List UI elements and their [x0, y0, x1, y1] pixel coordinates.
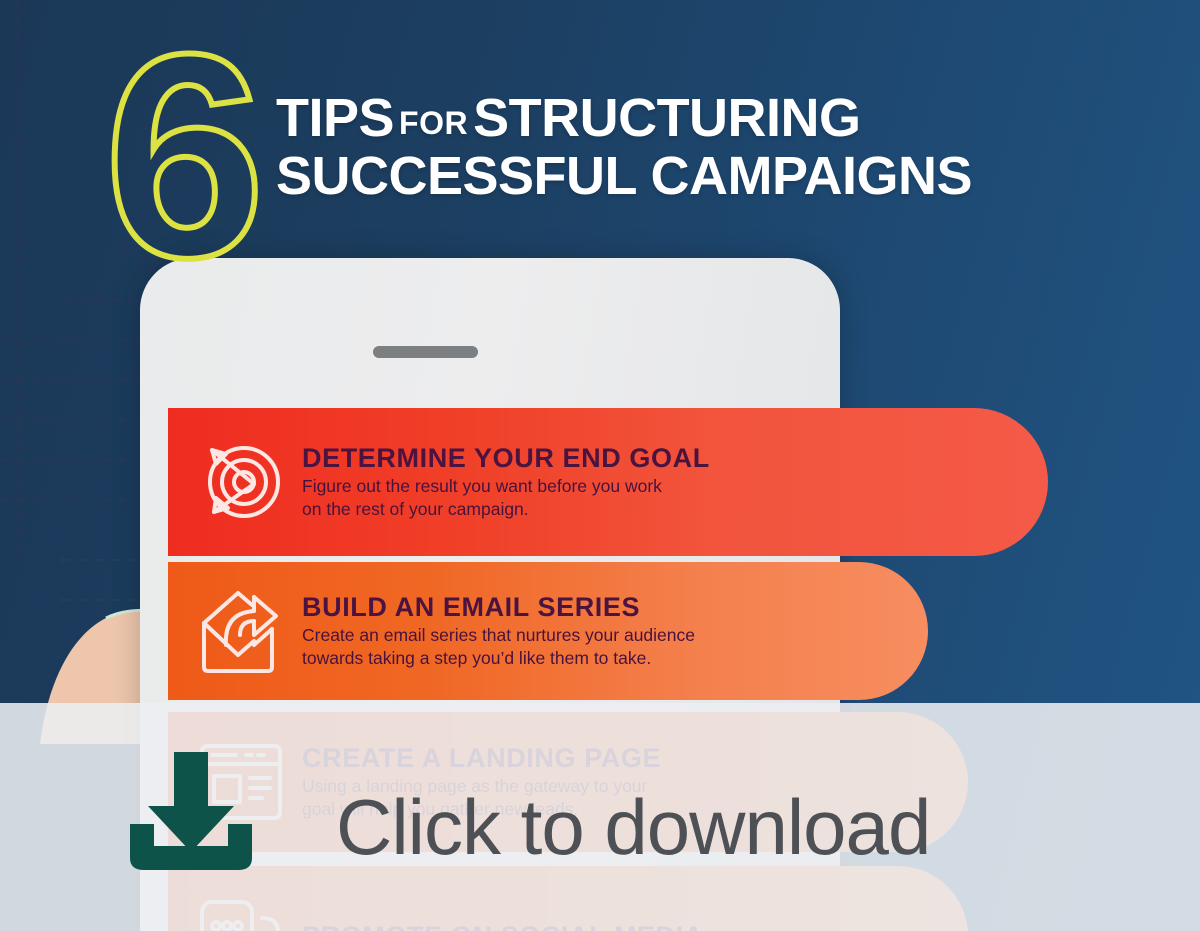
download-label[interactable]: Click to download [336, 782, 930, 873]
page-title: TIPSFORSTRUCTURING SUCCESSFUL CAMPAIGNS [276, 92, 1156, 203]
numeral-6-outline: 6 [104, 38, 294, 290]
tip-card-1[interactable]: DETERMINE YOUR END GOAL Figure out the r… [168, 408, 1048, 556]
target-arrow-icon [192, 434, 288, 530]
tip-card-1-title: DETERMINE YOUR END GOAL [302, 444, 710, 472]
headline-line-1: TIPSFORSTRUCTURING [276, 92, 1156, 144]
tip-card-2-desc-line-1: Create an email series that nurtures you… [302, 624, 695, 646]
tip-card-1-desc-line-2: on the rest of your campaign. [302, 498, 710, 520]
tip-card-1-desc-line-1: Figure out the result you want before yo… [302, 475, 710, 497]
infographic-canvas: 6 TIPSFORSTRUCTURING SUCCESSFUL CAMPAIGN… [0, 0, 1200, 931]
envelope-share-icon [192, 583, 288, 679]
phone-speaker-grill [373, 346, 478, 358]
tip-card-2-title: BUILD AN EMAIL SERIES [302, 593, 695, 621]
headline-for: FOR [394, 105, 473, 141]
tip-card-1-text: DETERMINE YOUR END GOAL Figure out the r… [288, 444, 730, 520]
headline-structuring: STRUCTURING [473, 88, 860, 148]
headline-line-2: SUCCESSFUL CAMPAIGNS [276, 150, 1156, 202]
tip-card-2[interactable]: BUILD AN EMAIL SERIES Create an email se… [168, 562, 928, 700]
tip-card-2-text: BUILD AN EMAIL SERIES Create an email se… [288, 593, 715, 669]
tip-card-2-desc-line-2: towards taking a step you’d like them to… [302, 647, 695, 669]
download-arrow-tray-icon[interactable] [124, 748, 258, 872]
headline-tips: TIPS [276, 88, 394, 148]
svg-text:6: 6 [104, 38, 265, 290]
